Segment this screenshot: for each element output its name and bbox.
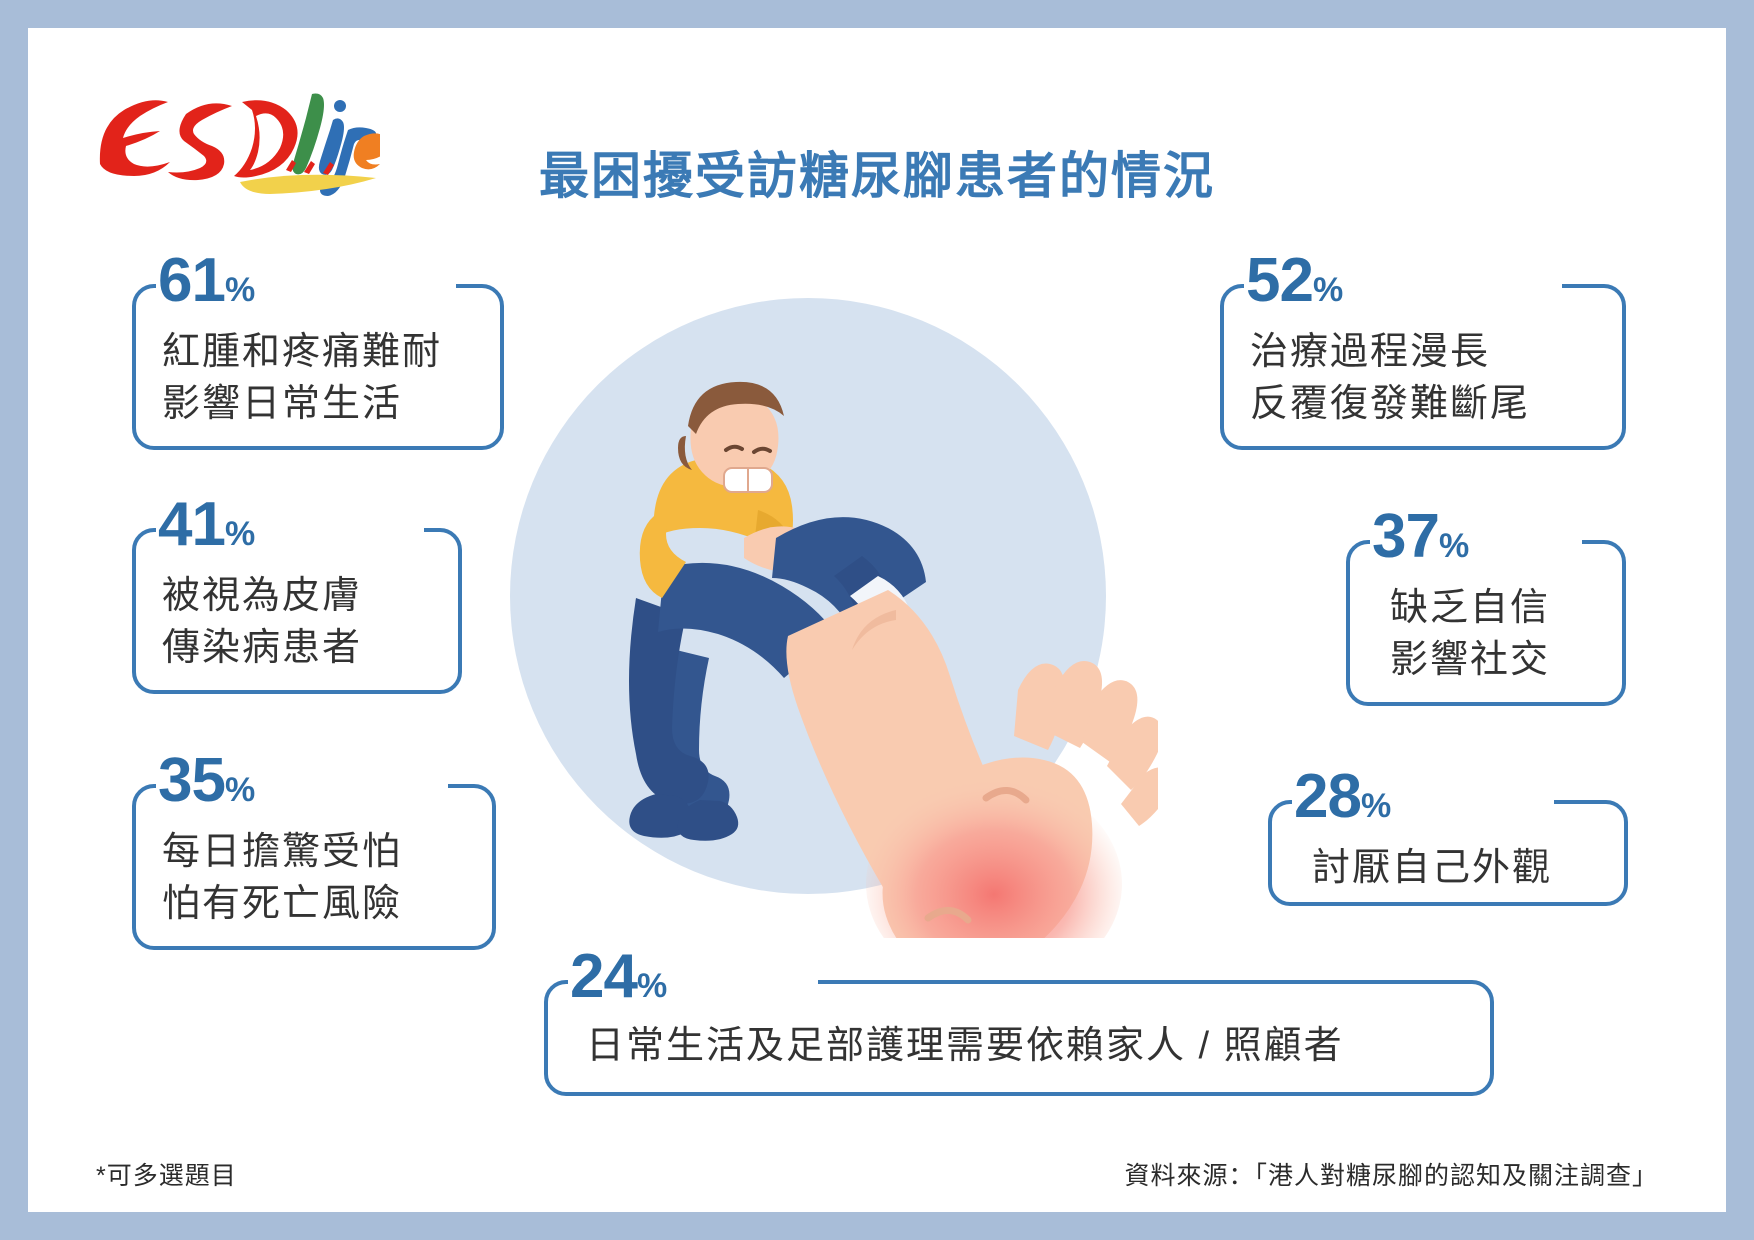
stat-item-35: 35% 每日擔驚受怕 怕有死亡風險 [132, 750, 532, 950]
stat-percent-41: 41% [158, 494, 255, 556]
stat-label-line: 每日擔驚受怕 [162, 826, 402, 878]
stat-label-61: 紅腫和疼痛難耐 影響日常生活 [162, 326, 442, 431]
stat-label-41: 被視為皮膚 傳染病患者 [162, 570, 362, 675]
stat-percent-symbol-52: % [1313, 271, 1343, 309]
stat-percent-61: 61% [158, 250, 255, 312]
stat-percent-37: 37% [1372, 506, 1469, 568]
stat-percent-value-28: 28 [1294, 762, 1361, 831]
stat-percent-value-24: 24 [570, 942, 637, 1011]
stat-item-41: 41% 被視為皮膚 傳染病患者 [132, 494, 512, 694]
infographic-card: ESD life 生活易 最困擾受訪糖尿腳患者的情況 [28, 28, 1726, 1212]
stat-label-line: 反覆復發難斷尾 [1250, 378, 1530, 430]
diabetic-foot-illustration [458, 238, 1158, 938]
stat-label-line: 日常生活及足部護理需要依賴家人 / 照顧者 [586, 1020, 1344, 1072]
stat-percent-symbol-24: % [637, 967, 667, 1005]
stat-label-35: 每日擔驚受怕 怕有死亡風險 [162, 826, 402, 931]
stat-percent-symbol-28: % [1361, 787, 1391, 825]
footnote: *可多選題目 [96, 1156, 237, 1192]
stat-item-24: 24% 日常生活及足部護理需要依賴家人 / 照顧者 [544, 946, 1504, 1096]
stat-item-61: 61% 紅腫和疼痛難耐 影響日常生活 [132, 250, 552, 450]
stat-percent-35: 35% [158, 750, 255, 812]
page-title: 最困擾受訪糖尿腳患者的情況 [28, 136, 1726, 208]
infographic-root: ESD life 生活易 最困擾受訪糖尿腳患者的情況 [0, 0, 1754, 1240]
stat-percent-symbol-35: % [225, 771, 255, 809]
stat-label-52: 治療過程漫長 反覆復發難斷尾 [1250, 326, 1530, 431]
stat-percent-symbol-41: % [225, 515, 255, 553]
stat-percent-52: 52% [1246, 250, 1343, 312]
stat-percent-24: 24% [570, 946, 667, 1008]
stat-label-line: 影響社交 [1390, 634, 1550, 686]
stat-label-line: 缺乏自信 [1390, 582, 1550, 634]
stat-label-line: 影響日常生活 [162, 378, 442, 430]
stat-label-line: 討厭自己外觀 [1312, 842, 1552, 894]
stat-percent-symbol-61: % [225, 271, 255, 309]
stat-label-37: 缺乏自信 影響社交 [1390, 582, 1550, 687]
stat-label-line: 治療過程漫長 [1250, 326, 1530, 378]
stat-percent-symbol-37: % [1439, 527, 1469, 565]
stat-percent-value-41: 41 [158, 490, 225, 559]
stat-percent-value-52: 52 [1246, 246, 1313, 315]
stat-percent-value-61: 61 [158, 246, 225, 315]
data-source: 資料來源：「港人對糖尿腳的認知及關注調查」 [1124, 1156, 1658, 1192]
stat-item-28: 28% 討厭自己外觀 [1268, 766, 1648, 906]
stat-percent-value-35: 35 [158, 746, 225, 815]
stat-label-line: 傳染病患者 [162, 622, 362, 674]
stat-item-37: 37% 缺乏自信 影響社交 [1346, 506, 1646, 706]
stat-label-24: 日常生活及足部護理需要依賴家人 / 照顧者 [586, 1020, 1344, 1072]
stat-label-line: 怕有死亡風險 [162, 878, 402, 930]
stat-label-28: 討厭自己外觀 [1312, 842, 1552, 894]
stat-label-line: 紅腫和疼痛難耐 [162, 326, 442, 378]
stat-percent-28: 28% [1294, 766, 1391, 828]
stat-item-52: 52% 治療過程漫長 反覆復發難斷尾 [1220, 250, 1640, 450]
stat-percent-value-37: 37 [1372, 502, 1439, 571]
stat-label-line: 被視為皮膚 [162, 570, 362, 622]
